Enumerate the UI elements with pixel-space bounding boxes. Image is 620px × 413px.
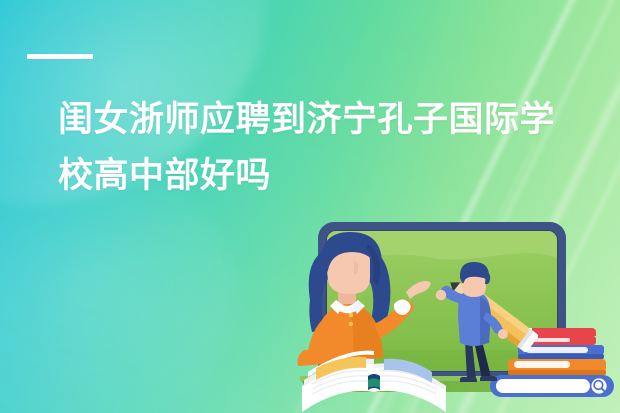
- book-blue: [518, 345, 604, 359]
- magnifier-icon: [591, 378, 606, 393]
- page-title: 闺女浙师应聘到济宁孔子国际学校高中部好吗: [58, 92, 588, 204]
- book-orange: [508, 359, 606, 375]
- accent-bar: [27, 54, 93, 59]
- search-bar: [490, 375, 614, 397]
- education-illustration: [282, 200, 620, 413]
- banner-card: 闺女浙师应聘到济宁孔子国际学校高中部好吗: [0, 0, 620, 413]
